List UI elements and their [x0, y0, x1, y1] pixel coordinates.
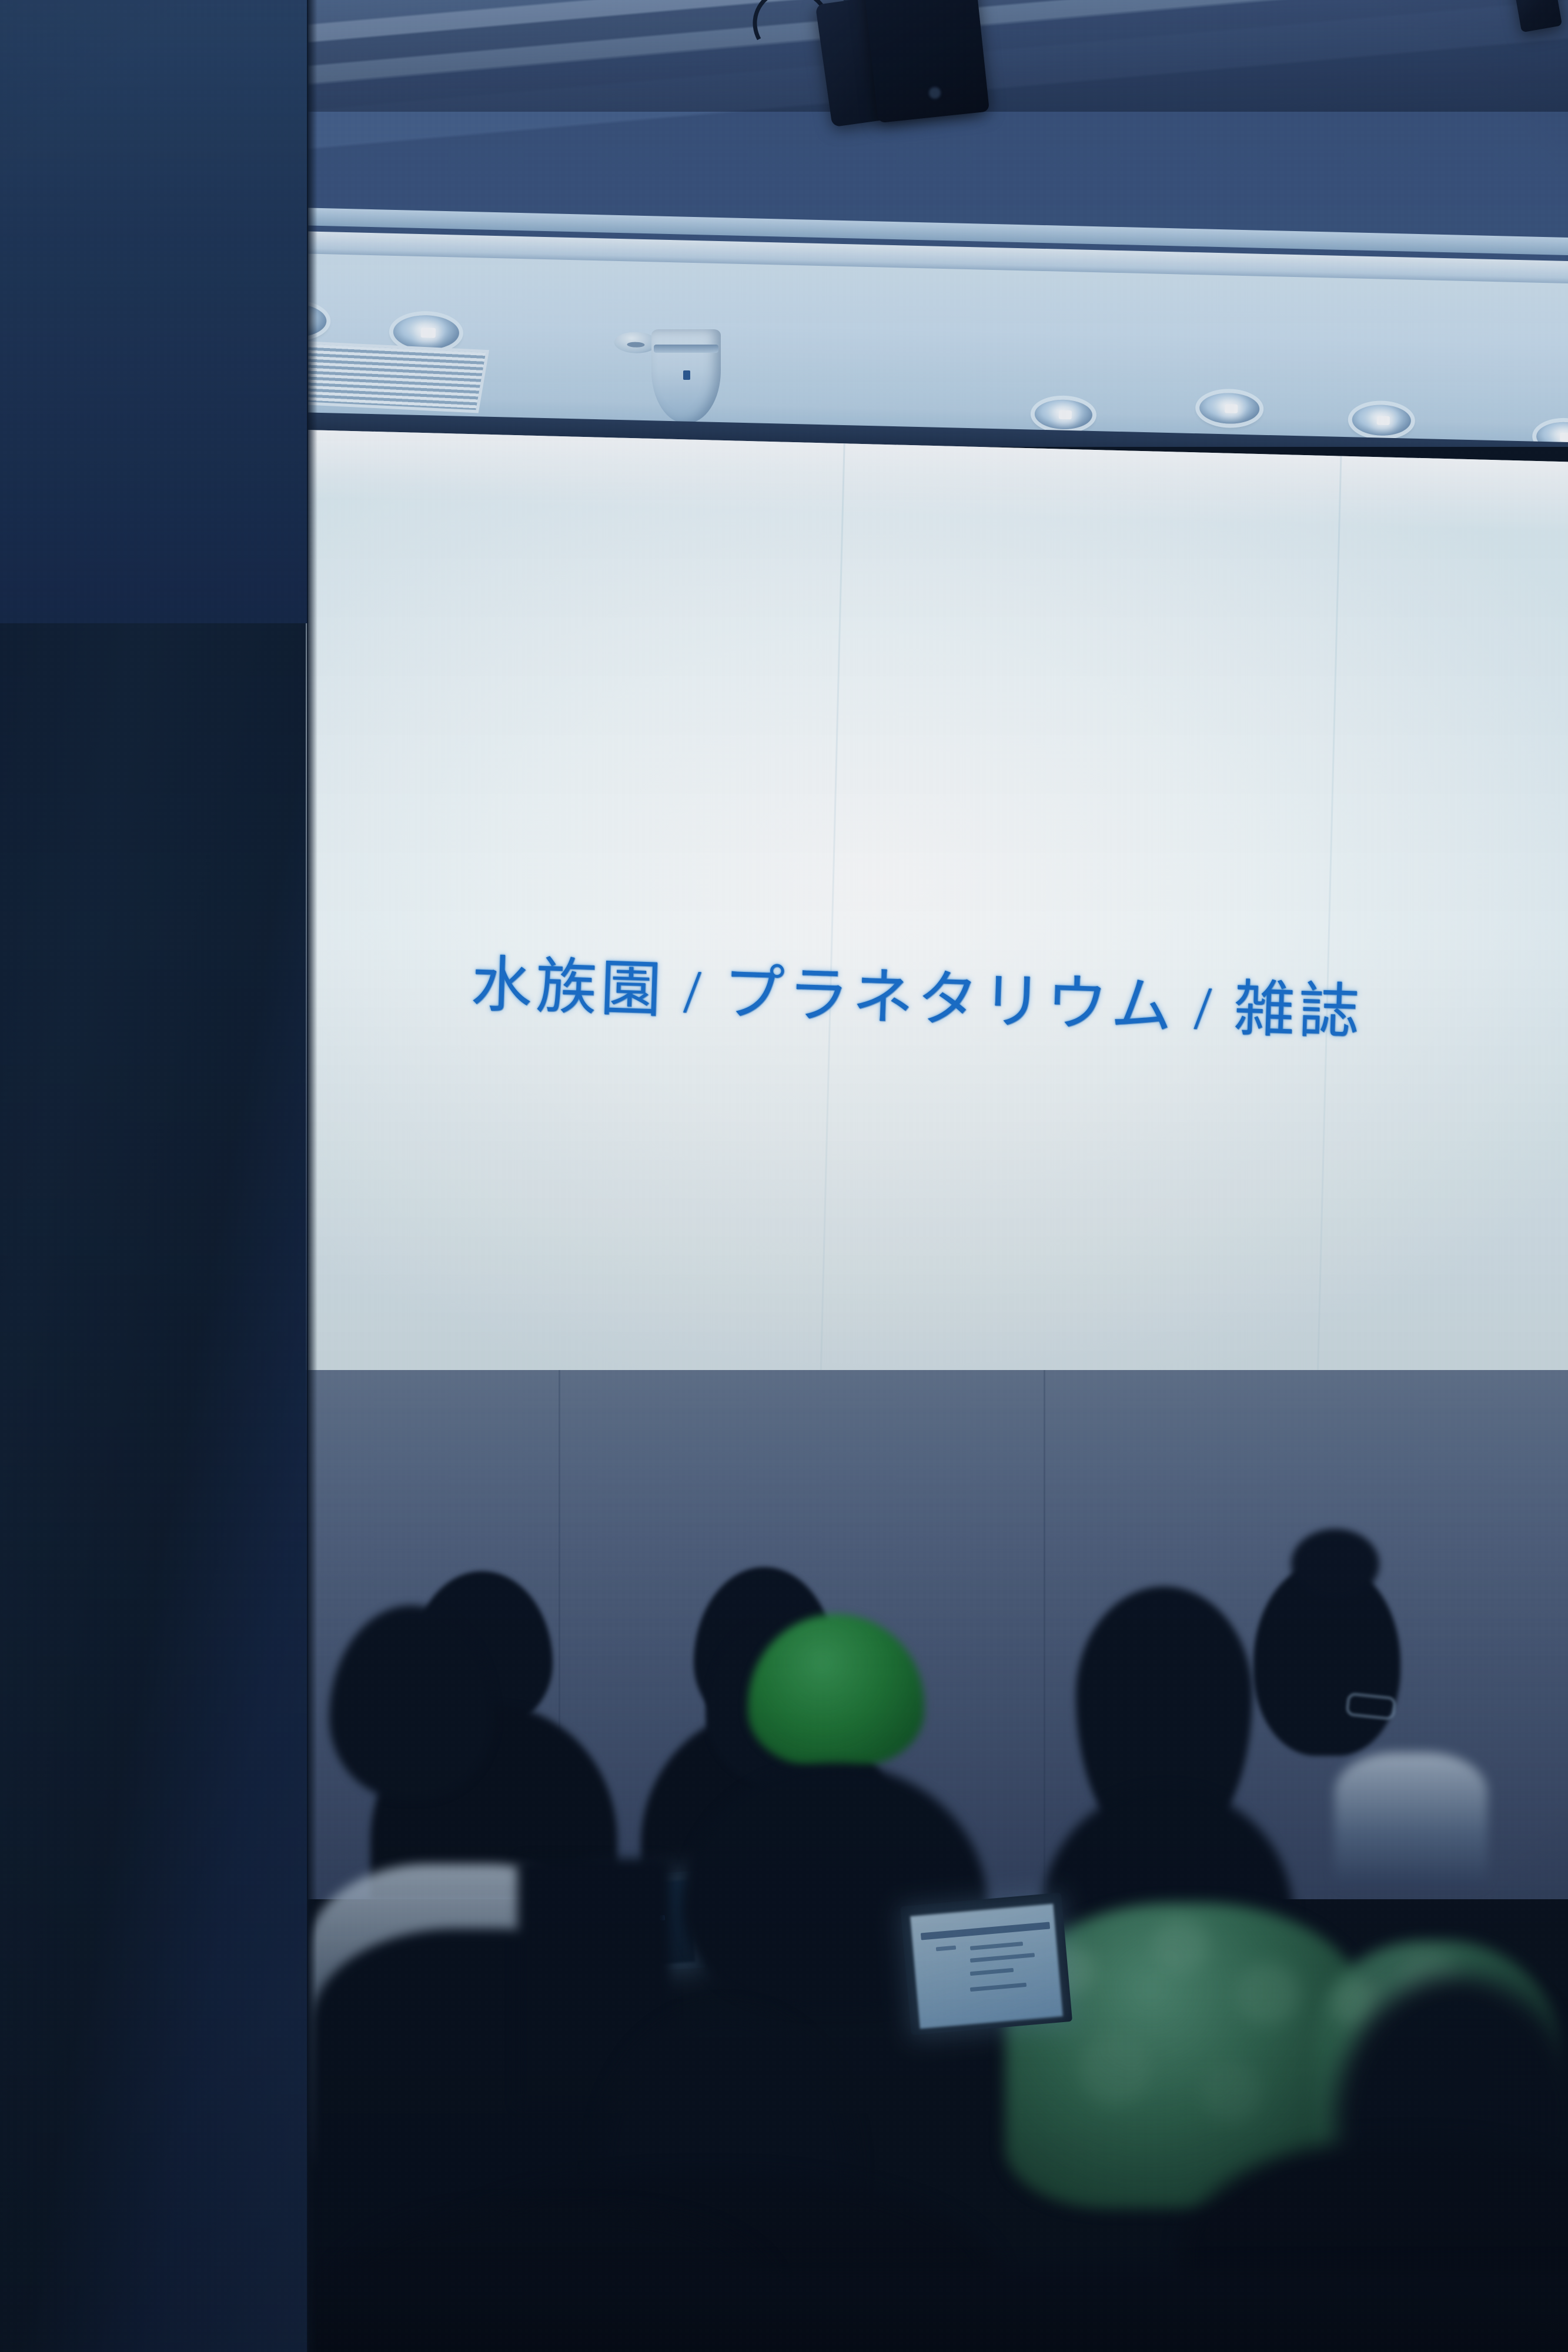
slide-text: 水族園 / プラネタリウム / 雑誌 [470, 934, 1365, 1051]
screen-panel-seam [818, 443, 845, 1423]
ceiling-downlight [393, 315, 459, 350]
audience-person-glasses-collar [1335, 1752, 1487, 1887]
left-pillar [0, 0, 308, 2352]
audience-foreground-bottom-band [235, 2270, 1568, 2352]
hvac-vent-grille [306, 340, 489, 413]
projection-screen-area: 水族園 / プラネタリウム / 雑誌 [306, 412, 1568, 1423]
glasses [1345, 1692, 1397, 1721]
projector-status-led [929, 87, 941, 99]
projection-screen: 水族園 / プラネタリウム / 雑誌 [306, 429, 1568, 1423]
hair-bun [1291, 1529, 1379, 1599]
ceiling [306, 0, 1568, 447]
projector-housing-front [862, 0, 989, 123]
presentation-room-photo: 水族園 / プラネタリウム / 雑誌 [0, 0, 1568, 2352]
screen-panel-seam [1315, 456, 1342, 1423]
pillar-upper-section [0, 0, 308, 623]
pillar-edge-shadow [307, 0, 317, 2352]
screen-top-glow [306, 429, 1568, 533]
